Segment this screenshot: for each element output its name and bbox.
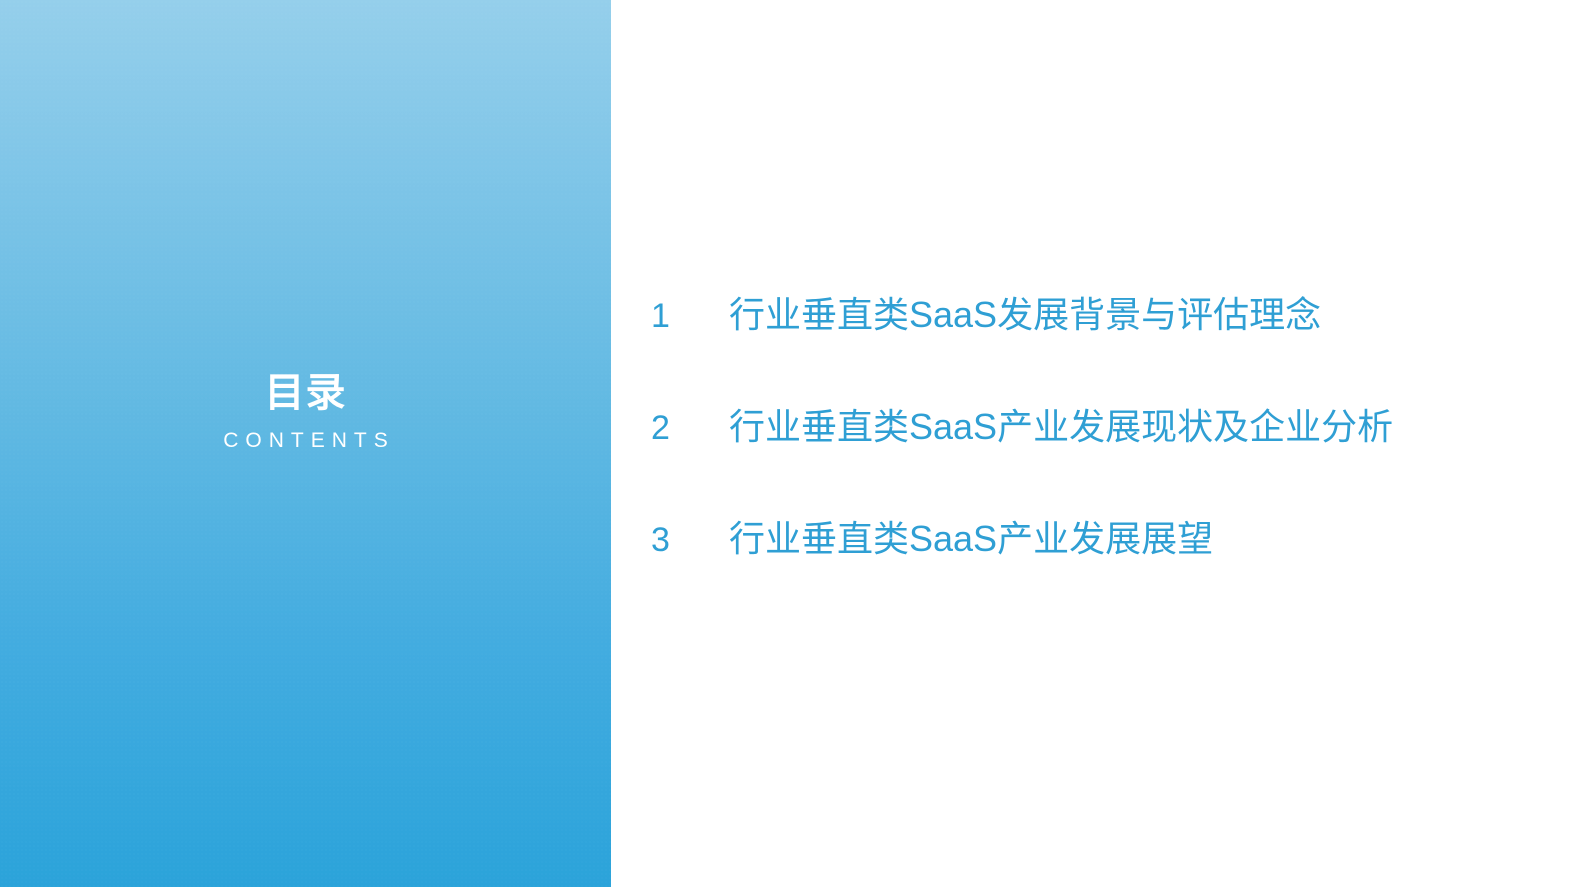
toc-item-3-number: 3: [651, 523, 729, 557]
toc-item-1-number: 1: [651, 299, 729, 333]
toc-item-2-number: 2: [651, 411, 729, 445]
toc-item-2-label[interactable]: 行业垂直类SaaS产业发展现状及企业分析: [729, 409, 1393, 445]
toc-item-3-label[interactable]: 行业垂直类SaaS产业发展展望: [729, 521, 1213, 557]
toc-item-1[interactable]: 1 行业垂直类SaaS发展背景与评估理念: [651, 297, 1551, 409]
toc-items-list: 1 行业垂直类SaaS发展背景与评估理念 2 行业垂直类SaaS产业发展现状及企…: [651, 297, 1551, 633]
toc-heading-block: 目录 CONTENTS: [0, 372, 611, 451]
toc-item-2[interactable]: 2 行业垂直类SaaS产业发展现状及企业分析: [651, 409, 1551, 521]
toc-title: 目录: [0, 372, 611, 414]
toc-item-1-label[interactable]: 行业垂直类SaaS发展背景与评估理念: [729, 297, 1321, 333]
toc-subtitle: CONTENTS: [0, 430, 611, 451]
toc-left-panel: 目录 CONTENTS: [0, 0, 611, 887]
slide-root: 目录 CONTENTS 1 行业垂直类SaaS发展背景与评估理念 2 行业垂直类…: [0, 0, 1587, 892]
toc-item-3[interactable]: 3 行业垂直类SaaS产业发展展望: [651, 521, 1551, 633]
